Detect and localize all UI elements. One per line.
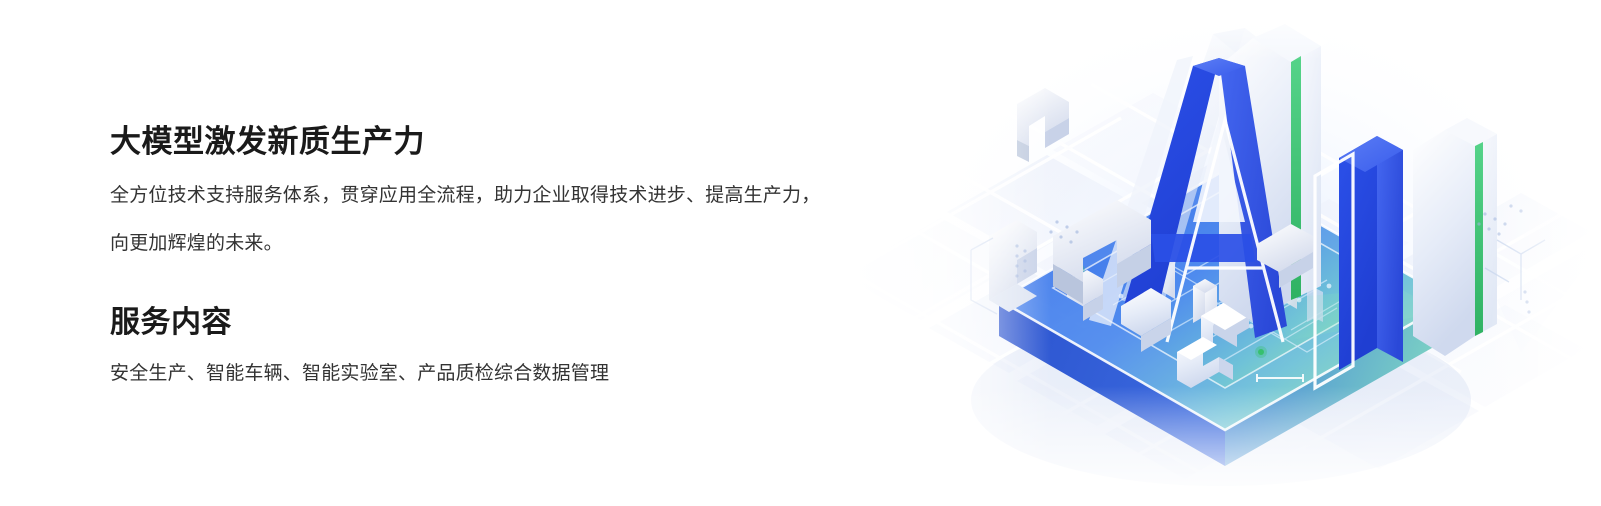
measure-bracket (1257, 374, 1303, 382)
letter-i-side-face (1377, 136, 1403, 362)
letter-a-apex-top (1193, 58, 1245, 76)
intro-paragraph: 全方位技术支持服务体系，贯穿应用全流程，助力企业取得技术进步、提高生产力，迈向更… (110, 172, 850, 268)
letter-a-3d (1121, 58, 1287, 342)
platform-base-left (999, 300, 1225, 466)
letter-i-3d (1315, 136, 1403, 388)
isometric-floor-grid (821, 84, 1601, 506)
white-l-block-front (1201, 302, 1249, 352)
services-list-text: 安全生产、智能车辆、智能实验室、产品质检综合数据管理 (110, 358, 609, 390)
background-halo (911, 0, 1571, 500)
letter-i-top-face (1339, 136, 1403, 172)
letter-a-wireframe (1167, 120, 1283, 342)
status-indicator-nodes (1073, 264, 1267, 358)
art-fade-top (821, 0, 1601, 60)
platform-shadow (971, 314, 1471, 486)
pale-tower-right-green-edge (1413, 118, 1497, 356)
letter-i-wireframe (1315, 154, 1353, 388)
white-j-block (1177, 337, 1233, 388)
art-fade-bottom (821, 386, 1601, 506)
floating-blocks (989, 88, 1313, 388)
pale-letter-a-backdrop (1121, 28, 1291, 312)
l-block-mid-left (989, 220, 1037, 312)
page-title: 大模型激发新质生产力 (110, 122, 425, 162)
grey-bar-right-of-a (1257, 224, 1313, 288)
pale-tower-green-edge (1219, 20, 1329, 322)
letter-a-right-face (1219, 58, 1287, 338)
corner-block-upper-left (1017, 88, 1069, 162)
small-cube-left (1067, 270, 1103, 321)
isometric-ai-illustration (821, 0, 1601, 506)
services-section-title: 服务内容 (110, 303, 232, 343)
green-accent-stripe-i (1475, 142, 1483, 336)
platform-base-top (999, 170, 1453, 430)
ai-service-banner: 大模型激发新质生产力 全方位技术支持服务体系，贯穿应用全流程，助力企业取得技术进… (0, 0, 1601, 506)
sensor-dot-details (1015, 204, 1530, 313)
circuit-pads (1119, 274, 1332, 329)
letter-a-counter (1193, 118, 1245, 222)
art-fade-right (1481, 0, 1601, 506)
green-accent-stripe-a (1291, 56, 1301, 300)
text-column: 大模型激发新质生产力 全方位技术支持服务体系，贯穿应用全流程，助力企业取得技术进… (110, 0, 870, 506)
pale-blade-left (1089, 56, 1193, 326)
circuit-traces (1089, 243, 1361, 362)
letter-i-front-face (1339, 136, 1377, 370)
letter-a-left-face (1121, 58, 1219, 330)
connector-lines-right (1485, 240, 1545, 300)
board-pillars (1151, 244, 1323, 323)
teal-glow (1261, 288, 1441, 340)
grey-wedge-under-a (1053, 200, 1151, 304)
platform-base-right (1225, 300, 1453, 466)
letter-a-crossbar (1151, 234, 1255, 262)
chip-platform (999, 170, 1453, 466)
grey-step-block (1121, 288, 1171, 352)
circuit-board-surface (1053, 189, 1399, 388)
connector-lines-left (971, 238, 997, 314)
